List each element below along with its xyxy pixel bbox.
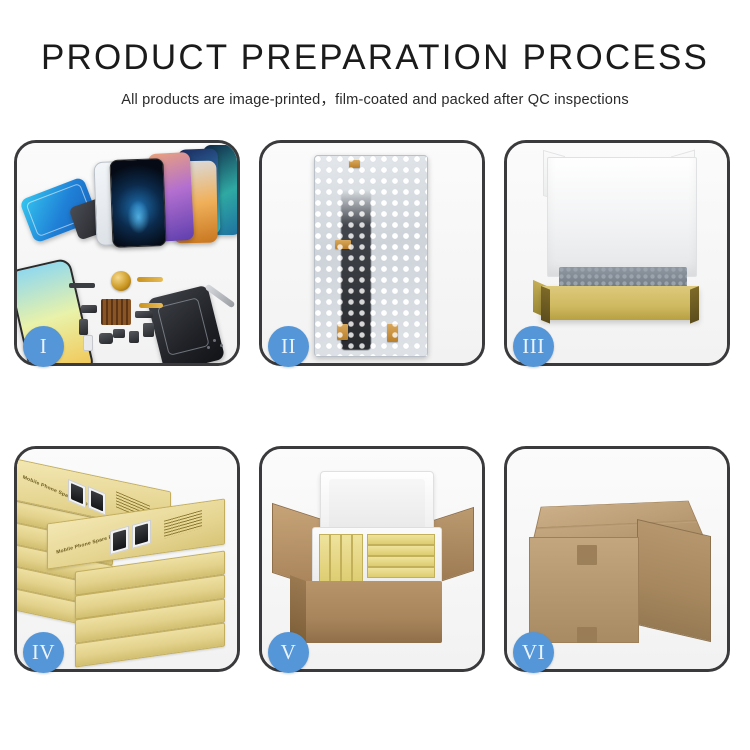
yellow-box-v1 — [319, 534, 330, 584]
copper-mesh-part — [101, 299, 131, 325]
flex-cable-2 — [139, 303, 163, 308]
step-badge-3: III — [513, 326, 554, 367]
step-badge-1: I — [23, 326, 64, 367]
step-card-4[interactable]: Mobile Phone Spare Parts Mobile Phone Sp… — [14, 446, 240, 672]
step-card-5[interactable]: V — [259, 446, 485, 672]
spare-part-bar — [69, 283, 95, 288]
connector-chip-4 — [113, 329, 125, 338]
wireless-charging-coil — [111, 271, 131, 291]
yellow-box-v4 — [352, 534, 363, 584]
yellow-box-h1 — [367, 534, 435, 545]
yellow-box-h3 — [367, 556, 435, 567]
yellow-box-v2 — [330, 534, 341, 584]
page-subtitle: All products are image-printed，film-coat… — [0, 88, 750, 109]
process-step-grid: I II III — [14, 140, 736, 672]
tape-top — [349, 160, 360, 168]
sim-tray — [83, 335, 93, 351]
carton-front-panel — [304, 581, 442, 643]
connector-chip-3 — [79, 319, 88, 335]
carton-side-panel — [637, 519, 711, 642]
screw-2 — [220, 344, 223, 347]
tape-patch-upper — [577, 545, 597, 565]
step-badge-6: VI — [513, 632, 554, 673]
step-badge-4: IV — [23, 632, 64, 673]
step-card-3[interactable]: III — [504, 140, 730, 366]
yellow-box-v3 — [341, 534, 352, 584]
tape-mid — [335, 240, 351, 249]
yellow-box-h4 — [367, 567, 435, 578]
yellow-box-h2 — [367, 545, 435, 556]
tape-patch-lower — [577, 627, 597, 643]
step-badge-5: V — [268, 632, 309, 673]
connector-chip-5 — [129, 331, 139, 343]
step-badge-2: II — [268, 326, 309, 367]
page-title: PRODUCT PREPARATION PROCESS — [0, 40, 750, 77]
tape-bottom-left — [337, 324, 348, 340]
phone-black-display — [109, 158, 166, 248]
camera-module — [143, 323, 154, 337]
bubble-wrap-bag — [314, 155, 428, 357]
screw-1 — [213, 339, 216, 342]
page-header: PRODUCT PREPARATION PROCESS All products… — [0, 0, 750, 109]
step-card-6[interactable]: VI — [504, 446, 730, 672]
bubble-texture — [315, 156, 427, 356]
screw-3 — [207, 346, 210, 349]
speaker-module — [99, 333, 113, 344]
phone-housing-backplate — [147, 285, 226, 363]
flex-cable-1 — [137, 277, 163, 282]
kraft-box-front — [541, 286, 699, 320]
tape-bottom-right — [387, 324, 398, 342]
connector-chip-2 — [135, 311, 153, 318]
box-white-lid — [547, 157, 697, 277]
step-card-1[interactable]: I — [14, 140, 240, 366]
connector-chip-1 — [81, 305, 97, 313]
step-card-2[interactable]: II — [259, 140, 485, 366]
